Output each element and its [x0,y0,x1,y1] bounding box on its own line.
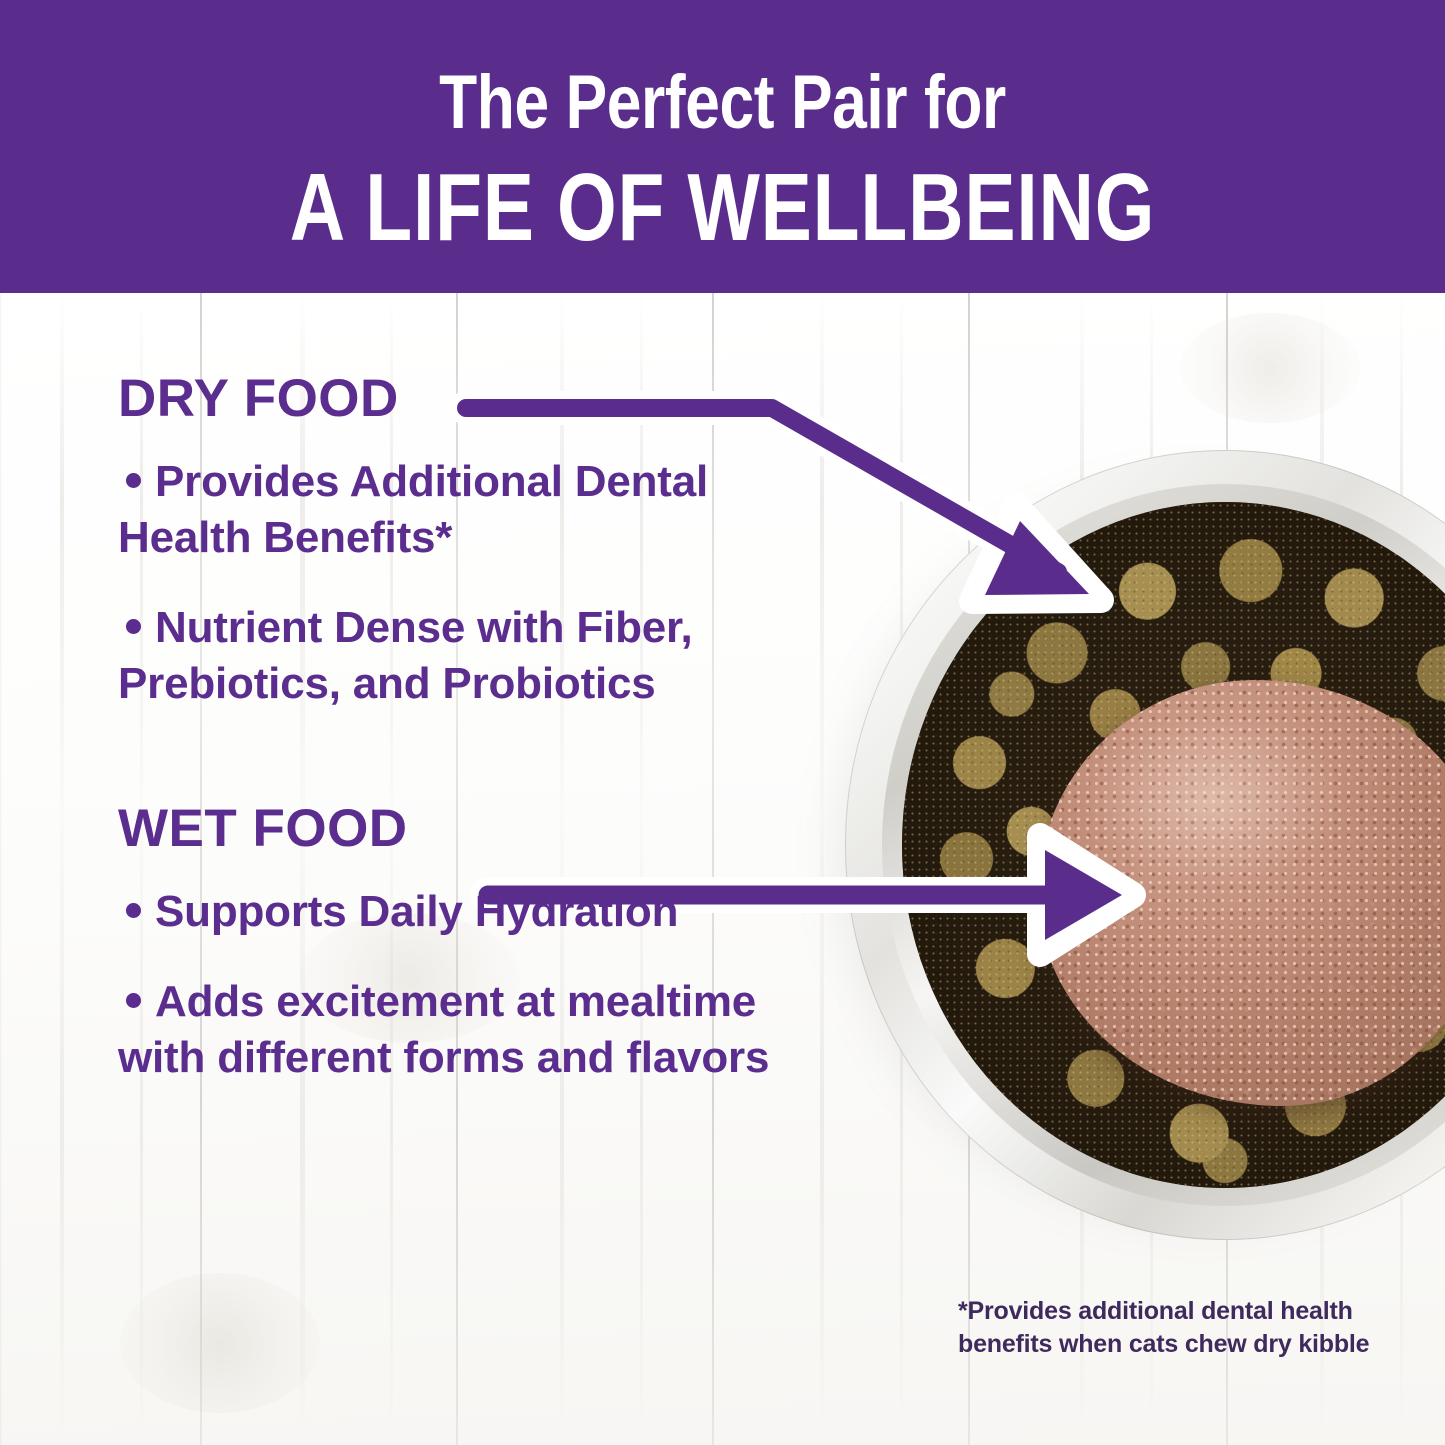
list-item: Nutrient Dense with Fiber, Prebiotics, a… [118,600,778,712]
bullet-dot-icon [126,473,141,488]
section-wet-food-title: WET FOOD [118,800,778,858]
wet-food-pate [1038,680,1445,1105]
pet-food-bowl-image [790,440,1445,1270]
section-wet-food: WET FOOD Supports Daily Hydration Adds e… [118,800,778,1086]
bullet-text: Adds excitement at mealtime with differe… [118,977,769,1082]
list-item: Adds excitement at mealtime with differe… [118,974,778,1086]
list-item: Supports Daily Hydration [118,884,778,940]
footnote-disclaimer: *Provides additional dental health benef… [958,1295,1388,1361]
header-title-line-2: A LIFE OF WELLBEING [145,158,1301,258]
bullet-dot-icon [126,903,141,918]
bowl-interior [902,502,1445,1188]
infographic-root: The Perfect Pair for A LIFE OF WELLBEING… [0,0,1445,1445]
bullet-text: Nutrient Dense with Fiber, Prebiotics, a… [118,603,693,708]
benefits-content: DRY FOOD Provides Additional Dental Heal… [118,370,778,1120]
section-dry-food-title: DRY FOOD [118,370,778,428]
bullet-text: Provides Additional Dental Health Benefi… [118,457,708,562]
bullet-dot-icon [126,619,141,634]
section-dry-food: DRY FOOD Provides Additional Dental Heal… [118,370,778,712]
bullet-dot-icon [126,993,141,1008]
pate-highlight [1083,714,1345,884]
bullet-text: Supports Daily Hydration [155,887,678,936]
list-item: Provides Additional Dental Health Benefi… [118,454,778,566]
header-banner: The Perfect Pair for A LIFE OF WELLBEING [0,0,1445,293]
header-title-line-1: The Perfect Pair for [130,62,1315,144]
